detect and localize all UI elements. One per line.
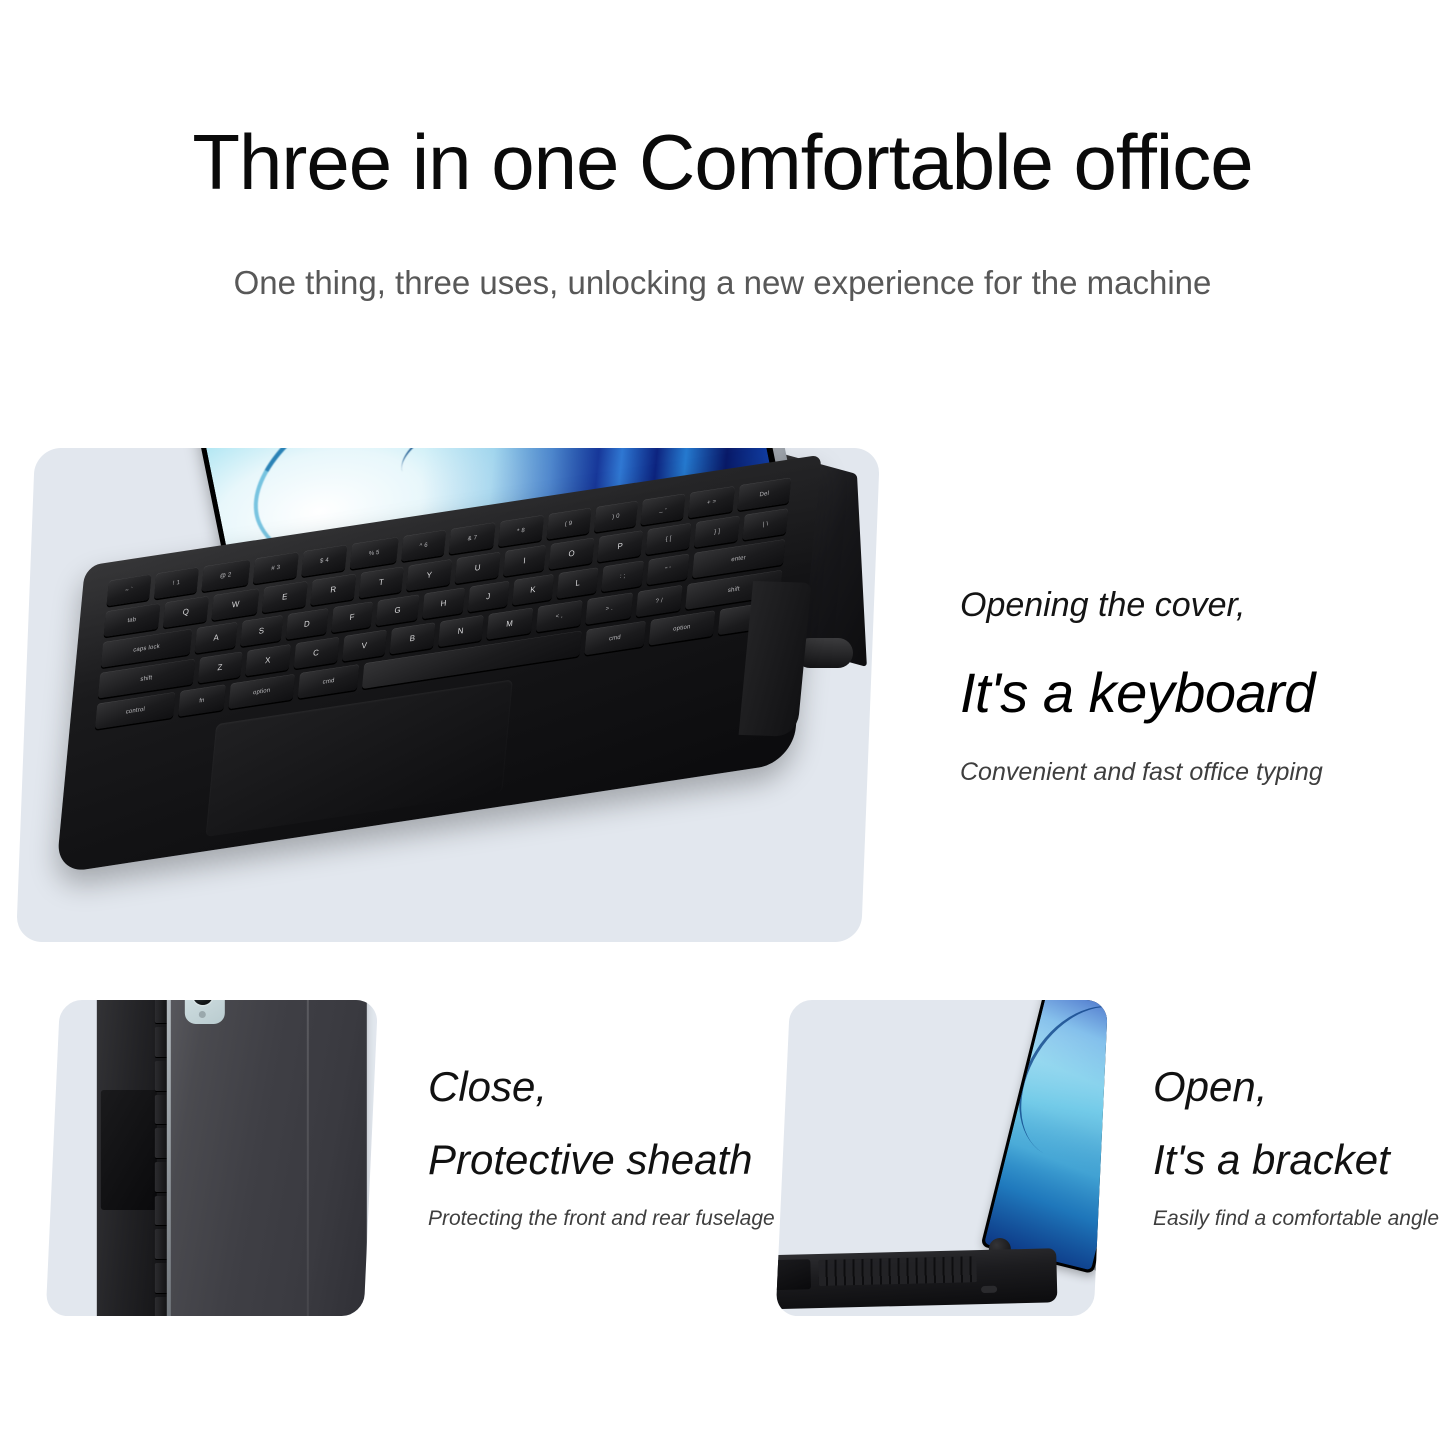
bracket-scene bbox=[783, 1000, 1101, 1316]
key-6[interactable]: ^ 6 bbox=[401, 530, 447, 562]
key-t[interactable]: T bbox=[359, 566, 404, 598]
page-title: Three in one Comfortable office bbox=[0, 122, 1445, 204]
key-8[interactable]: * 8 bbox=[498, 515, 543, 547]
key-z[interactable]: Z bbox=[197, 651, 242, 683]
trackpad[interactable] bbox=[776, 1259, 811, 1290]
key-l[interactable]: L bbox=[557, 567, 599, 599]
key-w[interactable]: W bbox=[212, 588, 260, 621]
keyboard-caption: Convenient and fast office typing bbox=[960, 758, 1323, 787]
fold-line bbox=[307, 1000, 309, 1316]
keyboard-base-side bbox=[776, 1248, 1058, 1310]
key-bracket-right[interactable]: } ] bbox=[694, 515, 740, 547]
key-semicolon[interactable]: : ; bbox=[601, 560, 644, 592]
keyboard-title: It's a keyboard bbox=[960, 660, 1315, 725]
key-bracket-left[interactable]: { [ bbox=[646, 523, 692, 555]
key-quote[interactable]: " ' bbox=[647, 554, 690, 586]
key-3[interactable]: # 3 bbox=[253, 552, 299, 584]
key-x[interactable]: X bbox=[245, 644, 291, 676]
charging-port bbox=[981, 1286, 997, 1293]
trackpad-edge bbox=[101, 1090, 157, 1210]
bracket-caption: Easily find a comfortable angle bbox=[1153, 1207, 1439, 1231]
flash-icon bbox=[199, 1011, 206, 1018]
feature-panel-case bbox=[46, 1000, 378, 1316]
key-f[interactable]: F bbox=[331, 601, 373, 633]
bracket-eyebrow: Open, bbox=[1153, 1063, 1267, 1111]
key-n[interactable]: N bbox=[438, 615, 484, 647]
key-v[interactable]: V bbox=[342, 630, 388, 662]
tablet-screen-side bbox=[981, 1000, 1108, 1274]
case-title: Protective sheath bbox=[428, 1136, 753, 1184]
feature-panel-keyboard: ~ ` ! 1 @ 2 # 3 $ 4 % 5 ^ 6 & 7 * 8 ( 9 … bbox=[16, 448, 880, 942]
key-c[interactable]: C bbox=[293, 637, 339, 669]
case-edge-highlight bbox=[167, 1000, 171, 1316]
tablet-back-panel bbox=[167, 1000, 367, 1316]
key-r[interactable]: R bbox=[310, 574, 356, 606]
key-0[interactable]: ) 0 bbox=[593, 501, 638, 533]
feature-panel-bracket bbox=[776, 1000, 1108, 1316]
key-y[interactable]: Y bbox=[407, 559, 453, 591]
key-comma[interactable]: < , bbox=[536, 600, 583, 632]
key-p[interactable]: P bbox=[597, 530, 643, 562]
keyboard-scene: ~ ` ! 1 @ 2 # 3 $ 4 % 5 ^ 6 & 7 * 8 ( 9 … bbox=[35, 448, 880, 942]
key-o[interactable]: O bbox=[548, 537, 595, 569]
key-equals[interactable]: + = bbox=[688, 486, 735, 518]
key-grid-side bbox=[818, 1256, 977, 1286]
key-d[interactable]: D bbox=[285, 608, 328, 640]
key-tab[interactable]: tab bbox=[104, 603, 161, 637]
tablet-device-side bbox=[981, 1000, 1108, 1274]
case-caption: Protecting the front and rear fuselage bbox=[428, 1207, 775, 1231]
key-k[interactable]: K bbox=[512, 574, 555, 606]
case-scene bbox=[53, 1000, 371, 1316]
key-1[interactable]: ! 1 bbox=[154, 567, 199, 599]
key-minus[interactable]: _ - bbox=[641, 493, 686, 525]
key-period[interactable]: > . bbox=[586, 592, 633, 624]
key-tilde[interactable]: ~ ` bbox=[107, 574, 152, 606]
key-i[interactable]: I bbox=[503, 545, 546, 577]
key-backslash[interactable]: | \ bbox=[743, 508, 789, 540]
wallpaper-abstract-blue bbox=[984, 1000, 1108, 1270]
key-9[interactable]: ( 9 bbox=[546, 508, 591, 540]
bracket-title: It's a bracket bbox=[1153, 1136, 1390, 1184]
key-e[interactable]: E bbox=[262, 581, 308, 613]
key-slash[interactable]: ? / bbox=[636, 585, 683, 617]
case-eyebrow: Close, bbox=[428, 1063, 547, 1111]
key-s[interactable]: S bbox=[240, 615, 283, 647]
camera-lens-icon bbox=[193, 1000, 213, 1005]
key-g[interactable]: G bbox=[376, 594, 420, 626]
key-q[interactable]: Q bbox=[163, 596, 210, 628]
key-b[interactable]: B bbox=[390, 622, 436, 654]
key-j[interactable]: J bbox=[468, 581, 509, 613]
key-4[interactable]: $ 4 bbox=[301, 544, 347, 576]
keyboard-base: ~ ` ! 1 @ 2 # 3 $ 4 % 5 ^ 6 & 7 * 8 ( 9 … bbox=[56, 455, 822, 874]
page-subtitle: One thing, three uses, unlocking a new e… bbox=[0, 264, 1445, 302]
key-m[interactable]: M bbox=[486, 607, 533, 639]
key-h[interactable]: H bbox=[422, 587, 465, 619]
rear-camera-module bbox=[185, 1000, 225, 1024]
keyboard-eyebrow: Opening the cover, bbox=[960, 586, 1245, 625]
key-a[interactable]: A bbox=[195, 622, 238, 654]
key-u[interactable]: U bbox=[455, 552, 501, 584]
